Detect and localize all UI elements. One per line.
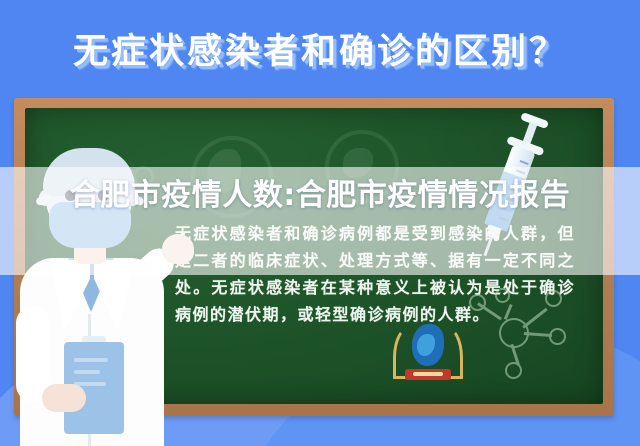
header-title: 无症状感染者和确诊的区别？ [73, 23, 567, 74]
poster-canvas: 无症状感染者和确诊的区别？ 无症状感染者和确诊病例都是受到感染的人群，但是二者的… [0, 0, 640, 446]
doctor-holding-hand [42, 384, 86, 412]
laurel-wreath-emblem-icon [391, 318, 465, 382]
header-banner: 无症状感染者和确诊的区别？ [0, 0, 640, 96]
overlay-title: 合肥市疫情人数:合肥市疫情情况报告 [0, 176, 640, 216]
molecule-diagram-icon [469, 288, 565, 380]
